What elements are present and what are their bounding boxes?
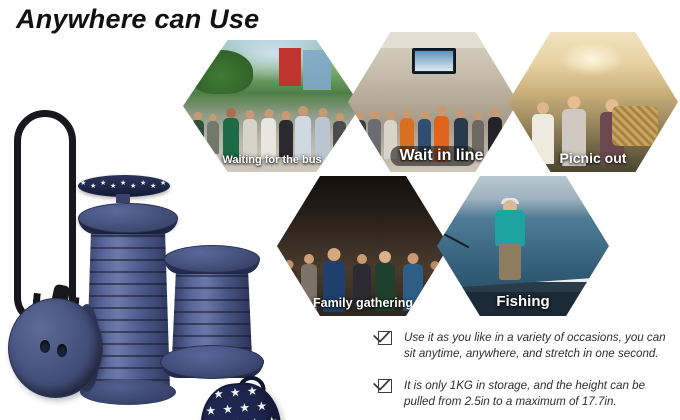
feature-item: It is only 1KG in storage, and the heigh… bbox=[378, 378, 674, 409]
scene-caption: Wait in line bbox=[391, 146, 476, 166]
checkbox-checked-icon bbox=[378, 331, 392, 345]
feature-list: Use it as you like in a variety of occas… bbox=[378, 330, 674, 420]
star-print-carry-bag: ★★★★★★★★★★★★★★★★★★★★★★★★★★★★★★★★★★★ bbox=[197, 380, 286, 420]
angler-legs bbox=[499, 244, 521, 280]
stool-seat-top bbox=[164, 245, 260, 273]
scene-hex-fishing: Fishing bbox=[437, 176, 609, 316]
scene-hex-picnic-out: Picnic out bbox=[508, 32, 678, 172]
checkbox-checked-icon bbox=[378, 379, 392, 393]
page-title: Anywhere can Use bbox=[16, 4, 259, 35]
collapsed-disc bbox=[8, 298, 103, 398]
disc-hole bbox=[40, 340, 50, 353]
stool-telescoping-body bbox=[172, 269, 252, 357]
fishing-rod bbox=[437, 214, 469, 249]
angler-torso bbox=[495, 210, 525, 246]
scene-hex-wait-in-line: Wait in line bbox=[348, 32, 518, 172]
stool-seat-top bbox=[78, 203, 178, 233]
stool-base-disc bbox=[160, 345, 264, 379]
product-infographic-page: Anywhere can Use ★★★★★★★★★ bbox=[0, 0, 680, 420]
collapsed-telescoping-stool bbox=[160, 245, 264, 385]
feature-text: It is only 1KG in storage, and the heigh… bbox=[404, 378, 674, 409]
disc-hole bbox=[57, 344, 67, 357]
angler-figure bbox=[495, 200, 525, 278]
scene-caption: Fishing bbox=[437, 293, 609, 310]
feature-item: Use it as you like in a variety of occas… bbox=[378, 330, 674, 361]
scene-caption: Picnic out bbox=[508, 150, 678, 166]
picnic-basket bbox=[612, 106, 658, 146]
feature-text: Use it as you like in a variety of occas… bbox=[404, 330, 674, 361]
seat-pad-stem bbox=[116, 194, 130, 203]
